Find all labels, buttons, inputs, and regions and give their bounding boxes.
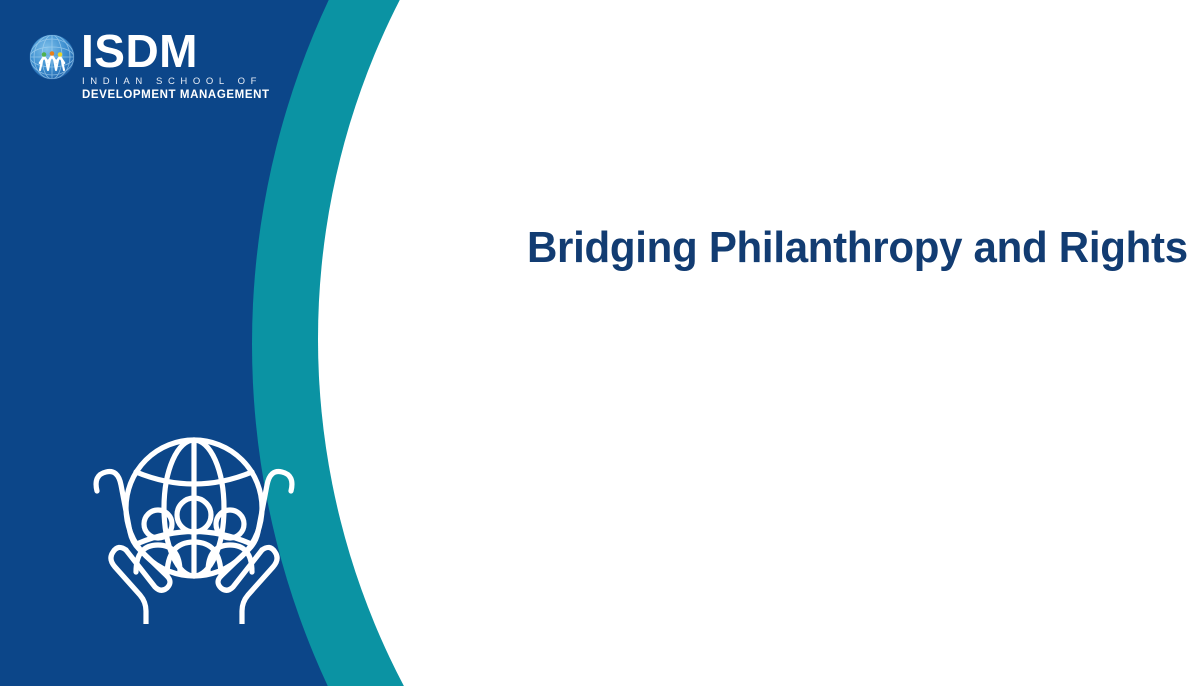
isdm-logo: ISDM INDIAN SCHOOL OF DEVELOPMENT MANAGE… — [27, 30, 270, 101]
logo-acronym: ISDM — [81, 30, 198, 74]
slide-title: Bridging Philanthropy and Rights — [527, 223, 1167, 272]
logo-tagline-line2: DEVELOPMENT MANAGEMENT — [82, 89, 270, 101]
hands-holding-globe-icon — [88, 412, 300, 624]
globe-people-icon — [27, 32, 77, 82]
logo-wordmark: ISDM INDIAN SCHOOL OF DEVELOPMENT MANAGE… — [81, 30, 270, 101]
white-content-circle — [318, 0, 1200, 686]
logo-tagline-line1: INDIAN SCHOOL OF — [82, 76, 262, 87]
presentation-slide: ISDM INDIAN SCHOOL OF DEVELOPMENT MANAGE… — [0, 0, 1200, 686]
